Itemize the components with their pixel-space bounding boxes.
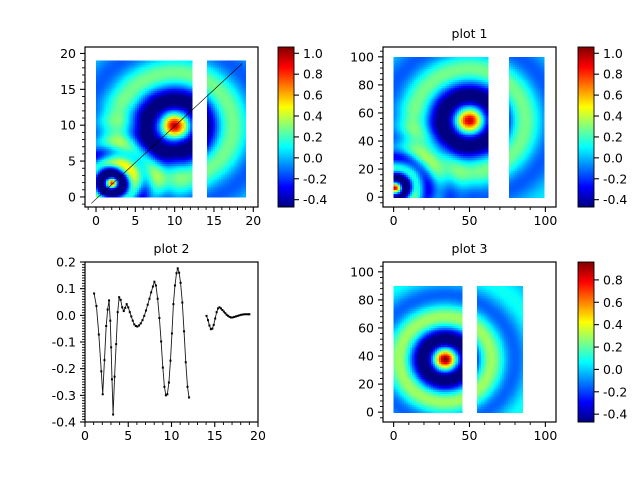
panel-plot-3: plot 30501000204060801000.80.60.40.20.0-… (320, 240, 640, 480)
heatmap-image (394, 286, 524, 413)
x-tick-label: 0 (390, 428, 398, 443)
colorbar-tick-label: 0.8 (603, 272, 623, 287)
y-tick-label: 100 (350, 264, 374, 279)
y-tick-label: 80 (358, 292, 374, 307)
colorbar-tick-label: 0.4 (603, 317, 623, 332)
colorbar: 0.80.60.40.20.0-0.2-0.4 (578, 262, 627, 423)
colorbar-tick-label: 0.0 (603, 362, 623, 377)
y-tick-label: 20 (358, 377, 374, 392)
x-tick-label: 100 (533, 428, 557, 443)
y-tick-label: 40 (358, 349, 374, 364)
x-tick-label: 50 (462, 428, 478, 443)
figure-canvas: 05101520051015201.00.80.60.40.20.0-0.2-0… (0, 0, 640, 480)
y-tick-label: 0 (366, 405, 374, 420)
plot-title: plot 3 (452, 241, 488, 256)
colorbar-tick-label: -0.2 (603, 384, 627, 399)
colorbar-tick-label: 0.6 (603, 295, 623, 310)
colorbar-tick-label: -0.4 (603, 407, 627, 422)
y-tick-label: 60 (358, 320, 374, 335)
colorbar-tick-label: 0.2 (603, 340, 623, 355)
plot-bottom-right: plot 30501000204060801000.80.60.40.20.0-… (0, 0, 640, 480)
